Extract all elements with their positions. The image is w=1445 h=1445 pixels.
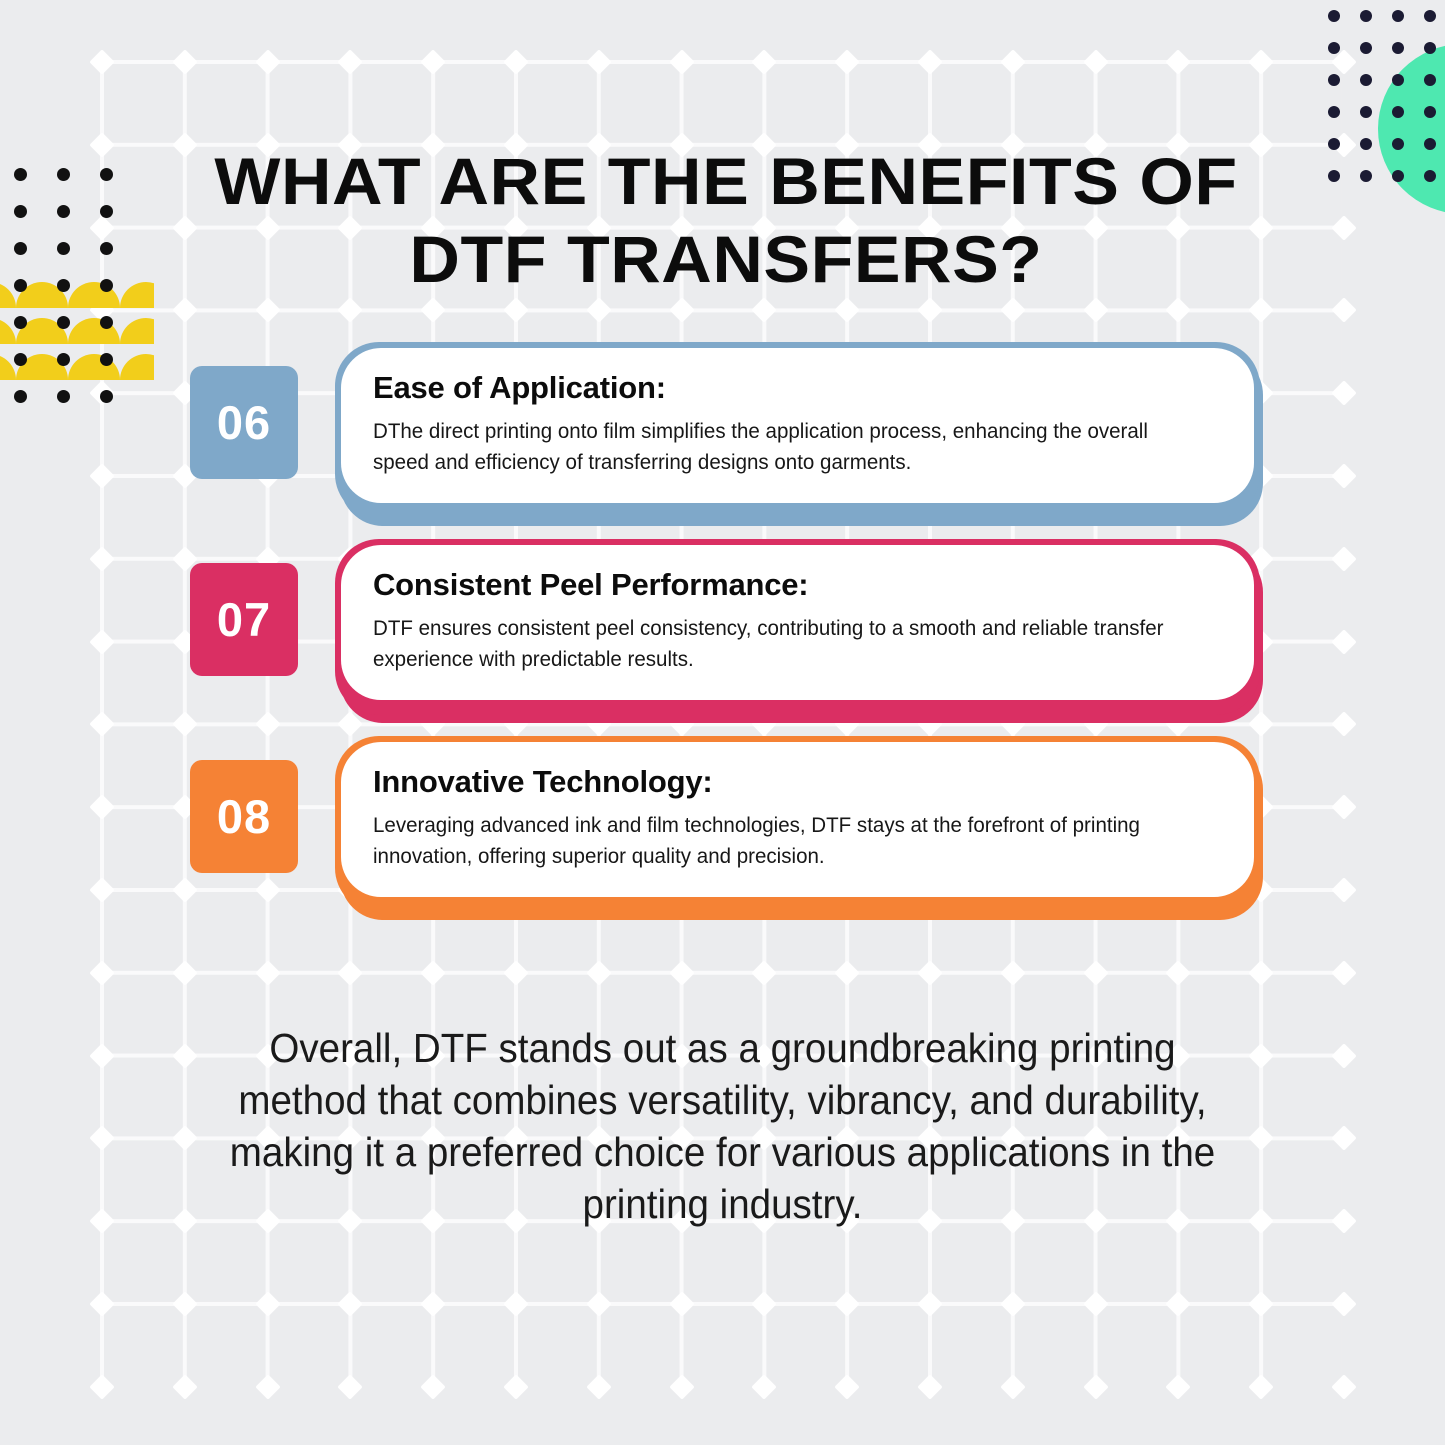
summary-paragraph: Overall, DTF stands out as a groundbreak… <box>213 1022 1233 1230</box>
card-heading: Ease of Application: <box>373 370 1224 406</box>
card-outline: Consistent Peel Performance:DTF ensures … <box>335 539 1260 715</box>
card-heading: Consistent Peel Performance: <box>373 567 1224 603</box>
card-outline: Innovative Technology:Leveraging advance… <box>335 736 1260 912</box>
mint-circle-decoration <box>1378 44 1445 214</box>
card-number-badge: 08 <box>190 760 298 873</box>
card-description: Leveraging advanced ink and film technol… <box>373 810 1186 871</box>
yellow-halfcircle-decoration <box>0 282 154 390</box>
card-number-badge: 07 <box>190 563 298 676</box>
benefit-card: Ease of Application:DThe direct printing… <box>190 366 1260 526</box>
card-outline: Ease of Application:DThe direct printing… <box>335 342 1260 518</box>
benefit-card: Innovative Technology:Leveraging advance… <box>190 760 1260 920</box>
infographic-canvas: WHAT ARE THE BENEFITS OF DTF TRANSFERS? … <box>0 0 1445 1445</box>
card-number-badge: 06 <box>190 366 298 479</box>
card-body: Ease of Application:DThe direct printing… <box>341 348 1254 503</box>
card-body: Innovative Technology:Leveraging advance… <box>341 742 1254 897</box>
page-title: WHAT ARE THE BENEFITS OF DTF TRANSFERS? <box>143 143 1309 299</box>
card-body: Consistent Peel Performance:DTF ensures … <box>341 545 1254 700</box>
benefit-card: Consistent Peel Performance:DTF ensures … <box>190 563 1260 723</box>
card-description: DThe direct printing onto film simplifie… <box>373 416 1186 477</box>
card-description: DTF ensures consistent peel consistency,… <box>373 613 1186 674</box>
card-heading: Innovative Technology: <box>373 764 1224 800</box>
